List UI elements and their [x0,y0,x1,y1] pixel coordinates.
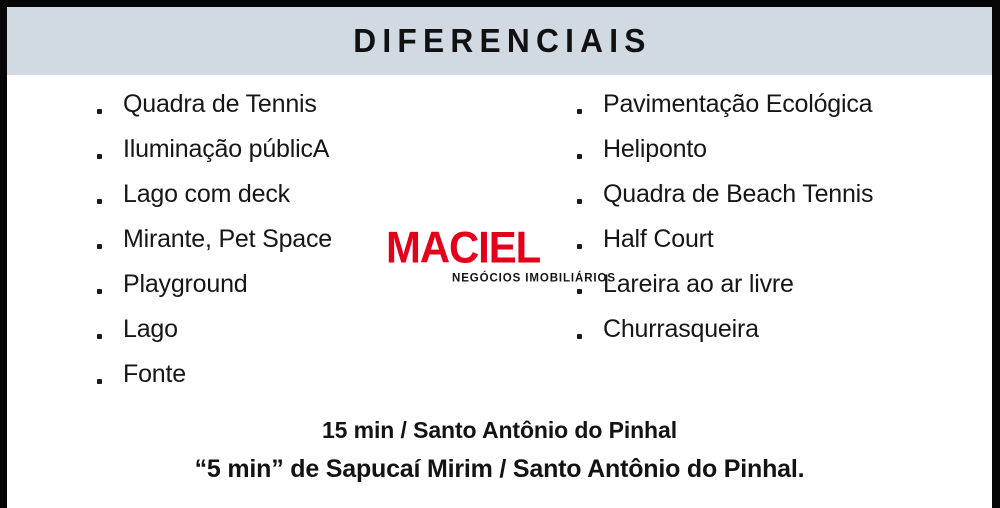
list-item-label: Half Court [603,225,714,253]
bullet-icon [97,199,102,204]
list-item-label: Lago com deck [123,180,290,208]
bullet-icon [97,244,102,249]
page-border-right [992,0,1000,508]
list-item-label: Iluminação públicA [123,135,329,163]
footer-line-1: 15 min / Santo Antônio do Pinhal [7,412,992,448]
bullet-icon [97,289,102,294]
page-border-left [0,0,7,508]
list-item-label: Playground [123,270,247,298]
list-item: Lago [89,307,489,352]
list-item-label: Lago [123,315,178,343]
list-item-label: Churrasqueira [603,315,759,343]
bullet-icon [577,154,582,159]
list-item: Churrasqueira [569,307,989,352]
header-band: DIFERENCIAIS [7,7,992,75]
bullet-icon [97,109,102,114]
list-item: Mirante, Pet Space [89,217,489,262]
features-left-column: Quadra de Tennis Iluminação públicA Lago… [89,82,489,397]
list-item-label: Mirante, Pet Space [123,225,332,253]
footer-location-info: 15 min / Santo Antônio do Pinhal “5 min”… [7,412,992,490]
list-item: Half Court [569,217,989,262]
features-right-column: Pavimentação Ecológica Heliponto Quadra … [569,82,989,352]
list-item-label: Fonte [123,360,186,388]
bullet-icon [577,289,582,294]
list-item-label: Pavimentação Ecológica [603,90,872,118]
list-item-label: Heliponto [603,135,707,163]
list-item: Iluminação públicA [89,127,489,172]
list-item-label: Lareira ao ar livre [603,270,794,298]
list-item: Heliponto [569,127,989,172]
footer-line-2: “5 min” de Sapucaí Mirim / Santo Antônio… [7,448,992,490]
list-item: Quadra de Tennis [89,82,489,127]
bullet-icon [97,334,102,339]
page-title: DIFERENCIAIS [353,22,651,60]
bullet-icon [577,199,582,204]
bullet-icon [577,334,582,339]
list-item: Fonte [89,352,489,397]
list-item: Lago com deck [89,172,489,217]
page-border-top [0,0,1000,7]
bullet-icon [577,244,582,249]
bullet-icon [97,154,102,159]
list-item: Quadra de Beach Tennis [569,172,989,217]
features-right-list: Pavimentação Ecológica Heliponto Quadra … [569,82,989,352]
features-section: Quadra de Tennis Iluminação públicA Lago… [7,82,992,407]
bullet-icon [97,379,102,384]
list-item-label: Quadra de Tennis [123,90,317,118]
list-item: Pavimentação Ecológica [569,82,989,127]
list-item: Playground [89,262,489,307]
bullet-icon [577,109,582,114]
list-item: Lareira ao ar livre [569,262,989,307]
brochure-page: DIFERENCIAIS Quadra de Tennis Iluminação… [0,0,1000,508]
list-item-label: Quadra de Beach Tennis [603,180,873,208]
features-left-list: Quadra de Tennis Iluminação públicA Lago… [89,82,489,397]
